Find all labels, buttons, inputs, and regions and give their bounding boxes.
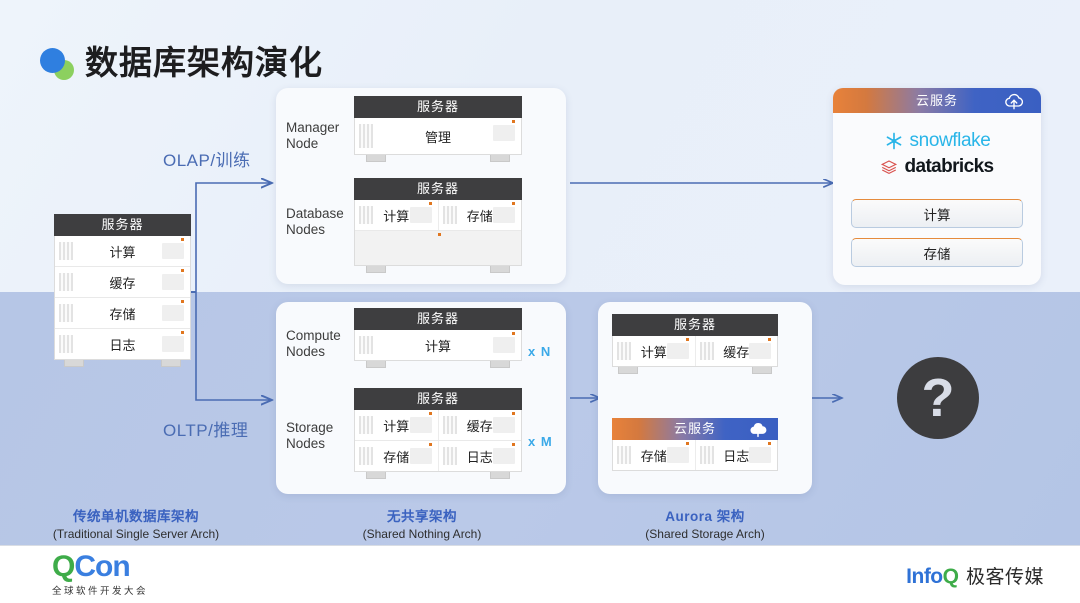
cloud-vendor-logos: snowflake databricks <box>833 130 1041 178</box>
traditional-server: 服务器 计算 缓存 <box>54 214 191 367</box>
database-nodes-label-line2: Nodes <box>286 222 344 238</box>
flow-label-oltp: OLTP/推理 <box>163 416 248 441</box>
shared-nothing-olap-card: Manager Node 服务器 管理 Database <box>276 88 566 284</box>
vent-grill-icon <box>59 242 73 260</box>
chip-icon <box>162 243 184 259</box>
chip-icon <box>493 337 515 353</box>
led-icon <box>181 238 184 241</box>
manager-node-server: 服务器 管理 <box>354 96 522 162</box>
storage-nodes-label-line1: Storage <box>286 420 333 436</box>
database-nodes-label: Database Nodes <box>286 206 344 238</box>
chip-icon <box>162 305 184 321</box>
compute-nodes-label-line1: Compute <box>286 328 341 344</box>
led-icon <box>429 412 432 415</box>
qcon-letters-con: Con <box>74 550 129 583</box>
vent-grill-icon <box>59 335 73 353</box>
server-cell-label: 计算 <box>109 242 135 261</box>
server-cell-label: 日志 <box>723 446 749 465</box>
aurora-cloud-storage: 云服务 存储 日志 <box>612 418 778 471</box>
server-cell: 管理 <box>355 118 521 154</box>
vendor-storage-button[interactable]: 存储 <box>851 238 1023 267</box>
slide-root: 数据库架构演化 OLAP/训练 OLTP/推理 服务器 <box>0 0 1080 603</box>
server-cell-label: 存储 <box>467 206 493 225</box>
qcon-subtitle: 全球软件开发大会 <box>52 583 148 597</box>
server-cell: 计算 <box>355 200 439 230</box>
flow-label-olap: OLAP/训练 <box>163 146 251 171</box>
server-row <box>355 231 521 265</box>
chip-icon <box>493 207 515 223</box>
chip-icon <box>749 447 771 463</box>
vent-grill-icon <box>700 446 714 464</box>
server-cell: 日志 <box>439 441 522 471</box>
led-icon <box>512 332 515 335</box>
server-cell: 存储 <box>613 440 696 470</box>
aurora-cloud-title-bar: 云服务 <box>612 418 778 440</box>
server-cell: 缓存 <box>55 267 190 297</box>
storage-nodes-multiplier: x M <box>528 434 553 449</box>
vent-grill-icon <box>443 416 457 434</box>
server-cell-label: 日志 <box>109 335 135 354</box>
chip-icon <box>493 125 515 141</box>
cloud-vendor-title: 云服务 <box>916 93 958 108</box>
vent-grill-icon <box>59 273 73 291</box>
led-icon <box>512 202 515 205</box>
server-row: 存储 日志 <box>355 441 521 471</box>
infoq-chinese-name: 极客传媒 <box>966 562 1044 589</box>
server-cell: 计算 <box>613 336 696 366</box>
manager-node-label-line1: Manager <box>286 120 339 136</box>
server-cell: 日志 <box>55 329 190 359</box>
caption-shared-nothing-en: (Shared Nothing Arch) <box>310 527 534 541</box>
snowflake-icon <box>884 131 904 151</box>
compute-nodes-server: 服务器 计算 <box>354 308 522 368</box>
server-cell: 日志 <box>696 440 778 470</box>
server-row: 管理 <box>355 118 521 154</box>
vendor-compute-button[interactable]: 计算 <box>851 199 1023 228</box>
storage-nodes-label: Storage Nodes <box>286 420 333 452</box>
databricks-logo: databricks <box>833 156 1041 178</box>
led-icon <box>429 202 432 205</box>
chip-icon <box>162 336 184 352</box>
storage-nodes-label-line2: Nodes <box>286 436 333 452</box>
chip-icon <box>410 448 432 464</box>
infoq-letter-q: Q <box>943 565 959 588</box>
led-icon <box>512 412 515 415</box>
server-feet <box>354 361 522 368</box>
server-feet <box>612 367 778 374</box>
caption-shared-nothing-cn: 无共享架构 <box>310 505 534 525</box>
storage-server-body: 计算 缓存 存储 <box>354 410 522 472</box>
server-cell-label: 存储 <box>383 447 409 466</box>
led-icon <box>438 233 441 236</box>
chip-icon <box>667 343 689 359</box>
aurora-card: 服务器 计算 缓存 <box>598 302 812 494</box>
chip-icon <box>493 448 515 464</box>
cloud-upload-icon <box>748 420 768 438</box>
manager-server-title: 服务器 <box>354 96 522 118</box>
server-cell: 存储 <box>55 298 190 328</box>
manager-node-label: Manager Node <box>286 120 339 152</box>
infoq-letters-info: Info <box>906 565 942 588</box>
chip-icon <box>410 207 432 223</box>
server-feet <box>354 472 522 479</box>
server-cell-label: 计算 <box>383 416 409 435</box>
server-row: 计算 缓存 <box>355 410 521 441</box>
manager-server-body: 管理 <box>354 118 522 155</box>
vent-grill-icon <box>443 206 457 224</box>
server-row: 计算 <box>55 236 190 267</box>
server-cell: 存储 <box>355 441 439 471</box>
server-row: 存储 日志 <box>613 440 777 470</box>
aurora-server-title: 服务器 <box>612 314 778 336</box>
server-cell-label: 计算 <box>383 206 409 225</box>
infoq-wordmark: InfoQ <box>906 565 959 589</box>
vent-grill-icon <box>617 342 631 360</box>
vent-grill-icon <box>617 446 631 464</box>
chip-icon <box>493 417 515 433</box>
compute-server-body: 计算 <box>354 330 522 361</box>
led-icon <box>429 443 432 446</box>
database-server-title: 服务器 <box>354 178 522 200</box>
server-cell-label: 存储 <box>109 304 135 323</box>
server-feet <box>354 155 522 162</box>
database-server-body: 计算 存储 <box>354 200 522 266</box>
caption-shared-nothing: 无共享架构 (Shared Nothing Arch) <box>310 505 534 541</box>
databricks-icon <box>880 158 898 176</box>
vent-grill-icon <box>359 447 373 465</box>
compute-server-title: 服务器 <box>354 308 522 330</box>
server-feet <box>54 360 191 367</box>
page-title: 数据库架构演化 <box>85 36 323 84</box>
qcon-logo: QCon 全球软件开发大会 <box>52 552 148 597</box>
server-feet <box>354 266 522 273</box>
server-cell: 缓存 <box>696 336 778 366</box>
server-cell-empty <box>355 231 521 265</box>
chip-icon <box>749 343 771 359</box>
shared-nothing-oltp-card: Compute Nodes 服务器 计算 x N Sto <box>276 302 566 494</box>
title-bullet-icon <box>38 46 78 82</box>
question-mark-badge: ? <box>897 357 979 439</box>
vent-grill-icon <box>59 304 73 322</box>
database-nodes-label-line1: Database <box>286 206 344 222</box>
led-icon <box>768 442 771 445</box>
compute-nodes-label-line2: Nodes <box>286 344 341 360</box>
server-cell-label: 计算 <box>425 336 451 355</box>
server-row: 存储 <box>55 298 190 329</box>
chip-icon <box>410 417 432 433</box>
question-mark-glyph: ? <box>922 371 955 425</box>
caption-traditional-en: (Traditional Single Server Arch) <box>24 527 248 541</box>
server-row: 计算 存储 <box>355 200 521 231</box>
caption-aurora-cn: Aurora 架构 <box>593 505 817 525</box>
server-cell-label: 计算 <box>641 342 667 361</box>
led-icon <box>181 300 184 303</box>
led-icon <box>181 331 184 334</box>
qcon-letter-q: Q <box>52 550 74 583</box>
aurora-compute-server: 服务器 计算 缓存 <box>612 314 778 374</box>
server-cell-label: 管理 <box>425 127 451 146</box>
database-nodes-server: 服务器 计算 存储 <box>354 178 522 273</box>
server-cell: 计算 <box>55 236 190 266</box>
server-cell-label: 缓存 <box>467 416 493 435</box>
server-row: 计算 缓存 <box>613 336 777 366</box>
led-icon <box>768 338 771 341</box>
databricks-wordmark: databricks <box>904 156 993 178</box>
caption-aurora-en: (Shared Storage Arch) <box>593 527 817 541</box>
server-cell: 缓存 <box>439 410 522 440</box>
snowflake-wordmark: snowflake <box>910 130 991 152</box>
caption-traditional-cn: 传统单机数据库架构 <box>24 505 248 525</box>
led-icon <box>512 120 515 123</box>
server-cell-label: 缓存 <box>723 342 749 361</box>
server-cell-label: 缓存 <box>109 273 135 292</box>
server-row: 日志 <box>55 329 190 359</box>
vent-grill-icon <box>359 124 373 148</box>
vent-grill-icon <box>700 342 714 360</box>
manager-node-label-line2: Node <box>286 136 339 152</box>
server-cell-label: 日志 <box>467 447 493 466</box>
cloud-vendor-card: 云服务 snowflake <box>833 88 1041 285</box>
led-icon <box>512 443 515 446</box>
chip-icon <box>667 447 689 463</box>
footer-divider <box>0 545 1080 546</box>
server-cell: 计算 <box>355 410 439 440</box>
cloud-vendor-title-bar: 云服务 <box>833 88 1041 113</box>
chip-icon <box>162 274 184 290</box>
snowflake-logo: snowflake <box>833 130 1041 152</box>
server-cell: 存储 <box>439 200 522 230</box>
compute-nodes-label: Compute Nodes <box>286 328 341 360</box>
server-row: 计算 <box>355 330 521 360</box>
infoq-logo: InfoQ 极客传媒 <box>906 562 1044 589</box>
aurora-cloud-title: 云服务 <box>674 421 716 436</box>
server-cell: 计算 <box>355 330 521 360</box>
compute-nodes-multiplier: x N <box>528 344 551 359</box>
led-icon <box>686 442 689 445</box>
led-icon <box>181 269 184 272</box>
cloud-upload-icon <box>1003 91 1025 111</box>
server-row: 缓存 <box>55 267 190 298</box>
vent-grill-icon <box>359 336 373 354</box>
vent-grill-icon <box>359 206 373 224</box>
traditional-server-body: 计算 缓存 存储 <box>54 236 191 360</box>
traditional-server-title: 服务器 <box>54 214 191 236</box>
vent-grill-icon <box>359 416 373 434</box>
storage-server-title: 服务器 <box>354 388 522 410</box>
server-cell-label: 存储 <box>641 446 667 465</box>
storage-nodes-server: 服务器 计算 缓存 <box>354 388 522 479</box>
caption-aurora: Aurora 架构 (Shared Storage Arch) <box>593 505 817 541</box>
led-icon <box>686 338 689 341</box>
caption-traditional: 传统单机数据库架构 (Traditional Single Server Arc… <box>24 505 248 541</box>
aurora-cloud-body: 存储 日志 <box>612 440 778 471</box>
vent-grill-icon <box>443 447 457 465</box>
aurora-server-body: 计算 缓存 <box>612 336 778 367</box>
bullet-primary-dot <box>40 48 65 73</box>
qcon-wordmark: QCon <box>52 552 148 582</box>
